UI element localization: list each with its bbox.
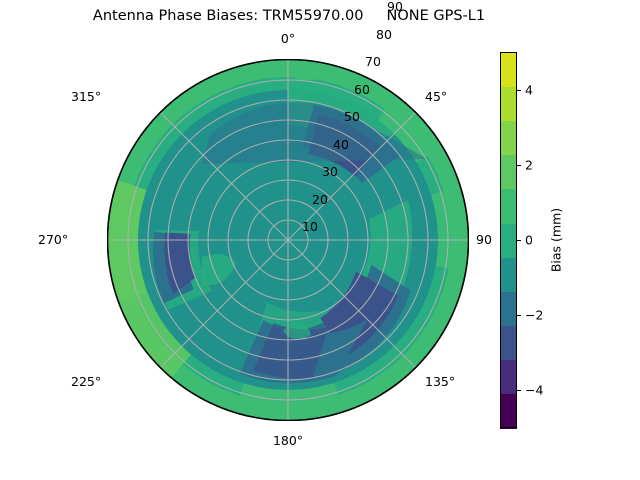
colorbar[interactable]: −4−2024 xyxy=(500,52,517,428)
colorbar-ticklabel-4: 4 xyxy=(525,82,533,97)
polar-axes: 0° 45° 90 135° 180° 225° 270° 315° 10 20… xyxy=(107,59,469,421)
radial-label-90: 90 xyxy=(387,0,403,14)
colorbar-ticklabel--4: −4 xyxy=(525,383,543,398)
figure-canvas: Antenna Phase Biases: TRM55970.00 NONE G… xyxy=(0,0,640,480)
contour-fill-group xyxy=(107,59,469,421)
colorbar-tick--2 xyxy=(517,315,521,316)
azimuth-label-90: 90 xyxy=(476,232,492,247)
colorbar-tick-2 xyxy=(517,165,521,166)
polar-plot-svg xyxy=(107,59,469,421)
polar-grid xyxy=(108,60,468,420)
radial-label-20: 20 xyxy=(312,192,328,207)
radial-label-50: 50 xyxy=(344,109,360,124)
colorbar-title: Bias (mm) xyxy=(549,208,564,272)
colorbar-ticklabel--2: −2 xyxy=(525,308,543,323)
radial-label-10: 10 xyxy=(302,219,318,234)
radial-label-80: 80 xyxy=(376,27,392,42)
colorbar-tick-4 xyxy=(517,90,521,91)
azimuth-label-180: 180° xyxy=(273,433,303,448)
chart-title: Antenna Phase Biases: TRM55970.00 NONE G… xyxy=(0,8,578,24)
azimuth-label-315: 315° xyxy=(71,89,101,104)
azimuth-label-270: 270° xyxy=(38,232,68,247)
radial-label-70: 70 xyxy=(365,54,381,69)
radial-label-60: 60 xyxy=(354,82,370,97)
radial-label-30: 30 xyxy=(322,164,338,179)
azimuth-label-45: 45° xyxy=(425,89,447,104)
colorbar-tick--4 xyxy=(517,390,521,391)
colorbar-ticklabel-0: 0 xyxy=(525,233,533,248)
azimuth-label-225: 225° xyxy=(71,374,101,389)
colorbar-tick-0 xyxy=(517,240,521,241)
radial-label-40: 40 xyxy=(333,137,349,152)
colorbar-outline xyxy=(500,52,517,428)
colorbar-ticklabel-2: 2 xyxy=(525,157,533,172)
azimuth-label-0: 0° xyxy=(281,31,295,46)
azimuth-label-135: 135° xyxy=(425,374,455,389)
